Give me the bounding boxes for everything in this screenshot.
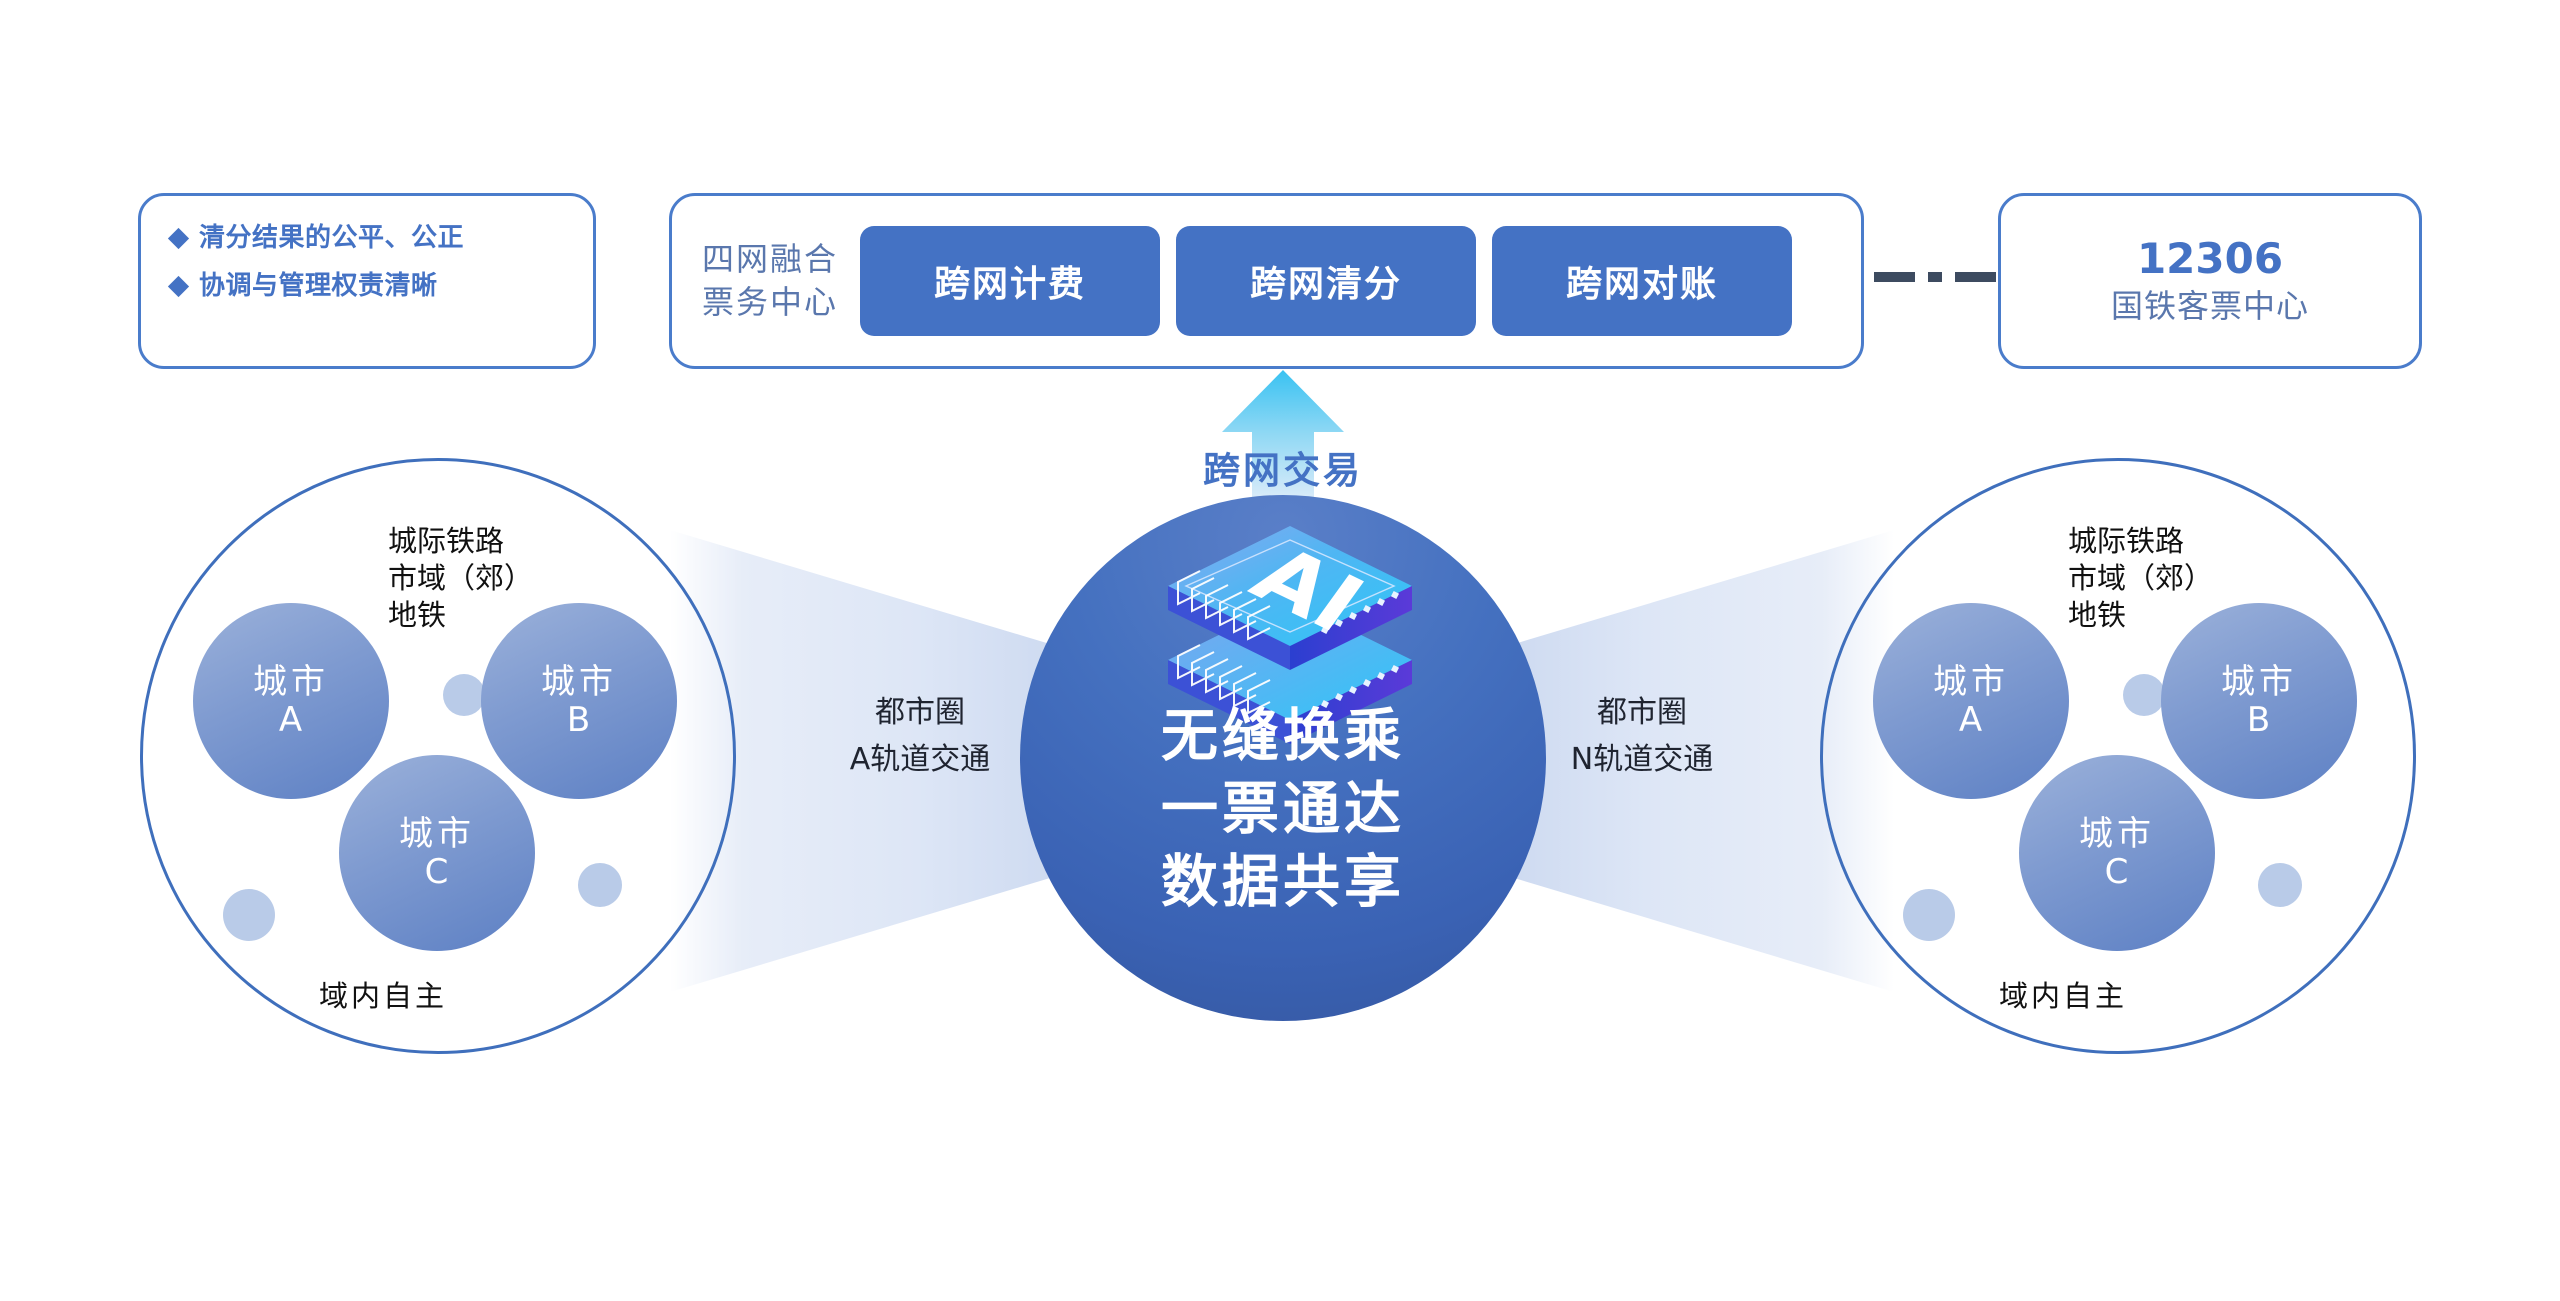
principle-text: 协调与管理权责清晰 [199, 272, 438, 302]
city-circle-b: 城市 B [2161, 603, 2357, 799]
diamond-bullet-icon [168, 276, 189, 297]
city-circle-c: 城市 C [2019, 755, 2215, 951]
flow-label-right: 都市圈 N轨道交通 [1492, 690, 1792, 783]
city-code: A [1959, 701, 1983, 739]
city-code: A [279, 701, 303, 739]
city-name: 城市 [541, 663, 617, 701]
flow-label-left: 都市圈 A轨道交通 [770, 690, 1070, 783]
decor-bubble [1903, 889, 1955, 941]
region-left-footer: 域内自主 [319, 973, 447, 1015]
dash-dot-connector [1874, 272, 1996, 282]
principle-text: 清分结果的公平、公正 [199, 224, 464, 254]
connector-dash [1874, 272, 1915, 282]
connector-dash [1955, 272, 1996, 282]
diagram-canvas: 清分结果的公平、公正 协调与管理权责清晰 四网融合 票务中心 跨网计费 跨网清分… [0, 0, 2560, 1301]
principles-list: 清分结果的公平、公正 协调与管理权责清晰 [171, 224, 583, 320]
function-button-cross-net-billing[interactable]: 跨网计费 [860, 226, 1160, 336]
city-name: 城市 [253, 663, 329, 701]
city-circle-b: 城市 B [481, 603, 677, 799]
decor-bubble [2123, 674, 2165, 716]
city-circle-a: 城市 A [193, 603, 389, 799]
region-right: 城际铁路 市域（郊） 地铁 城市 A 城市 B 城市 C 域内自主 [1820, 458, 2416, 1054]
rail-hotline-number: 12306 [2137, 236, 2283, 282]
function-button-cross-net-reconciliation[interactable]: 跨网对账 [1492, 226, 1792, 336]
decor-bubble [578, 863, 622, 907]
city-name: 城市 [1933, 663, 2009, 701]
decor-bubble [2258, 863, 2302, 907]
diamond-bullet-icon [168, 228, 189, 249]
city-name: 城市 [2079, 815, 2155, 853]
principle-item: 协调与管理权责清晰 [171, 272, 583, 302]
region-right-footer: 域内自主 [1999, 973, 2127, 1015]
city-name: 城市 [399, 815, 475, 853]
ticket-center-label: 四网融合 票务中心 [702, 238, 838, 324]
connector-dot [1928, 272, 1941, 282]
cross-net-transaction-label: 跨网交易 [1100, 440, 1466, 494]
rail-center-name: 国铁客票中心 [2111, 286, 2309, 326]
decor-bubble [223, 889, 275, 941]
hub-slogan: 无缝换乘 一票通达 数据共享 [1020, 700, 1546, 919]
decor-bubble [443, 674, 485, 716]
principle-item: 清分结果的公平、公正 [171, 224, 583, 254]
city-circle-a: 城市 A [1873, 603, 2069, 799]
city-code: C [425, 853, 450, 891]
national-rail-ticket-center-card: 12306 国铁客票中心 [1998, 193, 2422, 369]
region-left-title: 城际铁路 市域（郊） 地铁 [388, 523, 533, 634]
region-right-title: 城际铁路 市域（郊） 地铁 [2068, 523, 2213, 634]
ticket-center-card: 四网融合 票务中心 跨网计费 跨网清分 跨网对账 [669, 193, 1864, 369]
city-circle-c: 城市 C [339, 755, 535, 951]
city-code: B [567, 701, 591, 739]
function-button-cross-net-clearing[interactable]: 跨网清分 [1176, 226, 1476, 336]
city-code: B [2247, 701, 2271, 739]
city-name: 城市 [2221, 663, 2297, 701]
ticket-center-row: 四网融合 票务中心 跨网计费 跨网清分 跨网对账 [672, 196, 1861, 366]
principles-card: 清分结果的公平、公正 协调与管理权责清晰 [138, 193, 596, 369]
city-code: C [2105, 853, 2130, 891]
region-left: 城际铁路 市域（郊） 地铁 城市 A 城市 B 城市 C 域内自主 [140, 458, 736, 1054]
